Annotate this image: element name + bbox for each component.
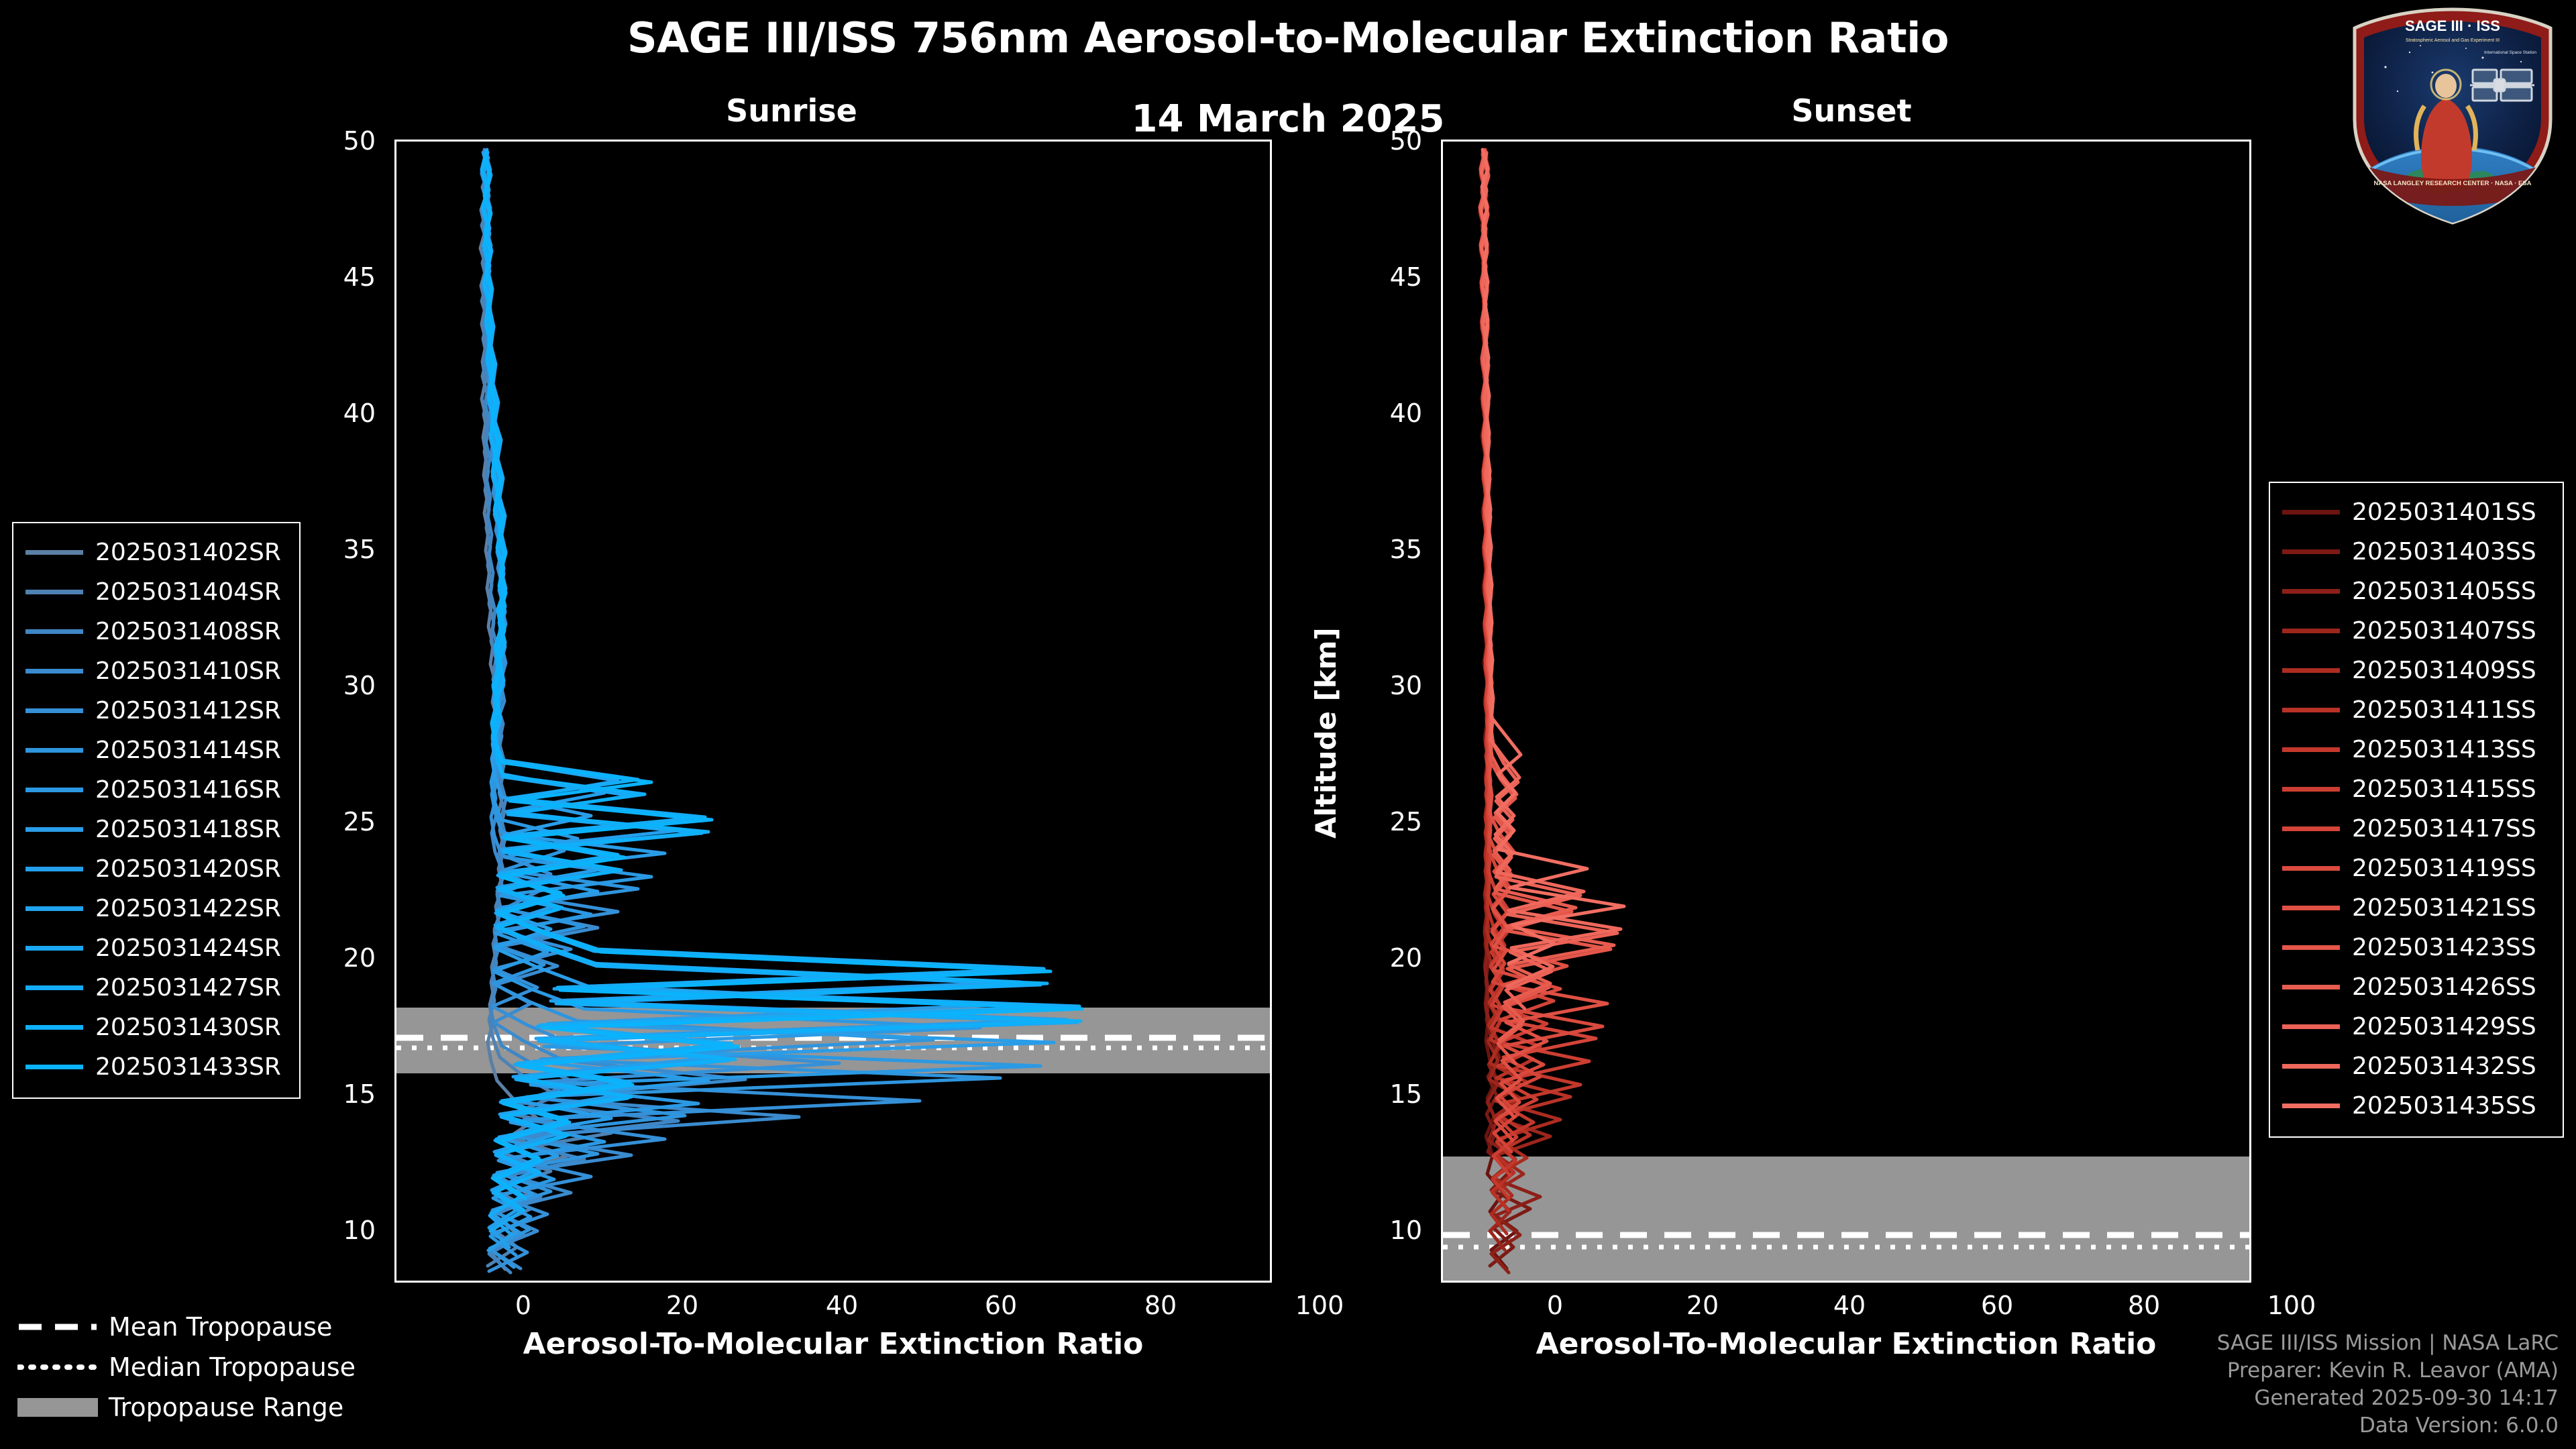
legend-label: 2025031404SR: [95, 578, 281, 606]
logo-station-text: International Space Station: [2484, 50, 2536, 55]
legend-label: 2025031435SS: [2352, 1092, 2536, 1120]
legend-swatch: [2282, 826, 2340, 831]
legend-swatch: [25, 669, 83, 674]
legend-item[interactable]: 2025031426SS: [2282, 967, 2551, 1007]
legend-label: 2025031407SS: [2352, 617, 2536, 645]
logo-sub-text: Stratospheric Aerosol and Gas Experiment…: [2406, 38, 2500, 43]
legend-label: 2025031403SS: [2352, 538, 2536, 566]
legend-swatch: [2282, 1104, 2340, 1108]
legend-item[interactable]: 2025031402SR: [25, 533, 287, 572]
legend-item[interactable]: 2025031407SS: [2282, 611, 2551, 651]
legend-label: 2025031420SR: [95, 855, 281, 883]
credit-line-version: Data Version: 6.0.0: [2217, 1412, 2559, 1440]
legend-label: 2025031412SR: [95, 697, 281, 724]
legend-swatch: [2282, 866, 2340, 871]
xtick-sunset-20: 20: [1662, 1291, 1743, 1320]
panel-header-sunrise: Sunrise: [657, 93, 926, 129]
legend-label: 2025031402SR: [95, 539, 281, 566]
legend-label: 2025031401SS: [2352, 498, 2536, 526]
plot-area-sunrise: [396, 142, 1270, 1281]
legend-swatch: [2282, 945, 2340, 950]
ytick-sunrise-30: 30: [295, 671, 376, 700]
legend-item[interactable]: 2025031408SR: [25, 612, 287, 651]
xtick-sunset-0: 0: [1515, 1291, 1595, 1320]
legend-label: 2025031418SR: [95, 816, 281, 843]
xtick-sunset-60: 60: [1957, 1291, 2037, 1320]
legend-sunrise[interactable]: 2025031402SR 2025031404SR 2025031408SR 2…: [12, 522, 301, 1099]
legend-item[interactable]: 2025031423SS: [2282, 928, 2551, 967]
legend-item[interactable]: 2025031419SS: [2282, 849, 2551, 888]
legend-label: 2025031430SR: [95, 1014, 281, 1041]
title-block: SAGE III/ISS 756nm Aerosol-to-Molecular …: [0, 16, 2576, 141]
legend-item[interactable]: 2025031427SR: [25, 968, 287, 1008]
legend-swatch: [25, 906, 83, 911]
legend-label: 2025031424SR: [95, 934, 281, 962]
ytick-sunset-30: 30: [1342, 671, 1422, 700]
legend-item[interactable]: 2025031421SS: [2282, 888, 2551, 928]
legend-swatch: [2282, 1064, 2340, 1069]
ytick-sunrise-40: 40: [295, 398, 376, 428]
legend-label: 2025031421SS: [2352, 894, 2536, 922]
credit-line-generated: Generated 2025-09-30 14:17: [2217, 1385, 2559, 1412]
dotted-line-icon: [17, 1358, 98, 1376]
legend-item[interactable]: 2025031411SS: [2282, 690, 2551, 730]
legend-item[interactable]: 2025031417SS: [2282, 809, 2551, 849]
legend-item[interactable]: 2025031410SR: [25, 651, 287, 691]
legend-item[interactable]: 2025031409SS: [2282, 651, 2551, 690]
logo-top-text: SAGE III · ISS: [2405, 17, 2500, 34]
plot-area-sunset: [1443, 142, 2249, 1281]
legend-swatch: [2282, 549, 2340, 554]
legend-item-mean-tropopause: Mean Tropopause: [17, 1307, 393, 1347]
legend-item[interactable]: 2025031405SS: [2282, 572, 2551, 611]
legend-label: 2025031417SS: [2352, 815, 2536, 843]
legend-item[interactable]: 2025031420SR: [25, 849, 287, 889]
ytick-sunset-25: 25: [1342, 807, 1422, 837]
legend-swatch: [2282, 747, 2340, 752]
ytick-sunset-40: 40: [1342, 398, 1422, 428]
legend-label: 2025031429SS: [2352, 1013, 2536, 1040]
legend-swatch: [25, 748, 83, 753]
ytick-sunrise-50: 50: [295, 126, 376, 156]
ytick-sunrise-10: 10: [295, 1216, 376, 1245]
legend-item[interactable]: 2025031424SR: [25, 928, 287, 968]
ytick-sunrise-45: 45: [295, 262, 376, 292]
legend-item[interactable]: 2025031432SS: [2282, 1046, 2551, 1086]
legend-swatch: [2282, 668, 2340, 673]
legend-label: 2025031427SR: [95, 974, 281, 1002]
panel-header-sunset: Sunset: [1717, 93, 1986, 129]
xtick-sunrise-100: 100: [1279, 1291, 1360, 1320]
legend-swatch: [25, 550, 83, 555]
legend-label: 2025031426SS: [2352, 973, 2536, 1001]
legend-swatch: [2282, 787, 2340, 792]
xtick-sunrise-0: 0: [483, 1291, 563, 1320]
legend-swatch: [2282, 629, 2340, 633]
legend-item-tropopause-range: Tropopause Range: [17, 1387, 393, 1428]
xtick-sunset-100: 100: [2251, 1291, 2332, 1320]
legend-label: Median Tropopause: [109, 1352, 356, 1382]
legend-label: Tropopause Range: [109, 1393, 343, 1422]
credit-line-mission: SAGE III/ISS Mission | NASA LaRC: [2217, 1330, 2559, 1357]
legend-label: 2025031410SR: [95, 657, 281, 685]
xtick-sunset-40: 40: [1809, 1291, 1890, 1320]
legend-item[interactable]: 2025031433SR: [25, 1047, 287, 1087]
credit-line-preparer: Preparer: Kevin R. Leavor (AMA): [2217, 1357, 2559, 1385]
ytick-sunset-15: 15: [1342, 1079, 1422, 1109]
xaxis-title-sunset: Aerosol-To-Molecular Extinction Ratio: [1441, 1327, 2251, 1361]
legend-label: 2025031416SR: [95, 776, 281, 804]
legend-item[interactable]: 2025031430SR: [25, 1008, 287, 1047]
ytick-sunset-10: 10: [1342, 1216, 1422, 1245]
legend-swatch: [25, 827, 83, 832]
legend-label: 2025031408SR: [95, 618, 281, 645]
legend-swatch: [2282, 708, 2340, 712]
legend-swatch: [25, 788, 83, 792]
legend-swatch: [25, 867, 83, 871]
legend-swatch: [25, 708, 83, 713]
legend-item-median-tropopause: Median Tropopause: [17, 1347, 393, 1387]
legend-swatch: [25, 985, 83, 990]
legend-label: Mean Tropopause: [109, 1312, 332, 1342]
xaxis-title-sunrise: Aerosol-To-Molecular Extinction Ratio: [394, 1327, 1272, 1361]
xtick-sunrise-20: 20: [642, 1291, 722, 1320]
legend-item[interactable]: 2025031414SR: [25, 731, 287, 770]
legend-item[interactable]: 2025031401SS: [2282, 492, 2551, 532]
legend-item[interactable]: 2025031404SR: [25, 572, 287, 612]
legend-label: 2025031423SS: [2352, 934, 2536, 961]
xtick-sunset-80: 80: [2104, 1291, 2184, 1320]
legend-label: 2025031432SS: [2352, 1053, 2536, 1080]
xtick-sunrise-40: 40: [802, 1291, 882, 1320]
legend-label: 2025031405SS: [2352, 578, 2536, 605]
legend-item[interactable]: 2025031418SR: [25, 810, 287, 849]
ytick-sunset-45: 45: [1342, 262, 1422, 292]
legend-swatch: [2282, 510, 2340, 515]
legend-label: 2025031411SS: [2352, 696, 2536, 724]
sage-iii-iss-logo: SAGE III · ISS Stratospheric Aerosol and…: [2345, 5, 2560, 227]
ytick-sunset-20: 20: [1342, 943, 1422, 973]
legend-item[interactable]: 2025031416SR: [25, 770, 287, 810]
legend-swatch: [2282, 985, 2340, 989]
legend-swatch: [25, 1065, 83, 1069]
page-title: SAGE III/ISS 756nm Aerosol-to-Molecular …: [0, 16, 2576, 60]
legend-item[interactable]: 2025031422SR: [25, 889, 287, 928]
legend-item[interactable]: 2025031413SS: [2282, 730, 2551, 769]
legend-swatch: [25, 629, 83, 634]
legend-swatch: [2282, 906, 2340, 910]
legend-swatch: [25, 946, 83, 951]
legend-item[interactable]: 2025031415SS: [2282, 769, 2551, 809]
legend-swatch: [2282, 589, 2340, 594]
legend-label: 2025031419SS: [2352, 855, 2536, 882]
gray-band-icon: [17, 1398, 98, 1417]
legend-swatch: [25, 590, 83, 594]
ytick-sunrise-35: 35: [295, 535, 376, 564]
page-subtitle-date: 14 March 2025: [0, 97, 2576, 141]
logo-ring-text: NASA LANGLEY RESEARCH CENTER · NASA · ES…: [2373, 180, 2531, 187]
ytick-sunrise-20: 20: [295, 943, 376, 973]
ytick-sunrise-25: 25: [295, 807, 376, 837]
plot-panel-sunrise: [394, 140, 1272, 1283]
legend-label: 2025031433SR: [95, 1053, 281, 1081]
legend-item[interactable]: 2025031403SS: [2282, 532, 2551, 572]
legend-sunset[interactable]: 2025031401SS 2025031403SS 2025031405SS 2…: [2269, 482, 2564, 1138]
ytick-sunset-35: 35: [1342, 535, 1422, 564]
legend-swatch: [25, 1025, 83, 1030]
yaxis-title-sunset: Altitude [km]: [1309, 627, 1342, 839]
legend-item[interactable]: 2025031412SR: [25, 691, 287, 731]
tropopause-legend: Mean Tropopause Median Tropopause Tropop…: [17, 1307, 393, 1428]
dashed-line-icon: [17, 1318, 98, 1336]
xtick-sunrise-60: 60: [961, 1291, 1041, 1320]
legend-item[interactable]: 2025031435SS: [2282, 1086, 2551, 1126]
legend-label: 2025031422SR: [95, 895, 281, 922]
ytick-sunrise-15: 15: [295, 1079, 376, 1109]
legend-label: 2025031414SR: [95, 737, 281, 764]
xtick-sunrise-80: 80: [1120, 1291, 1201, 1320]
legend-label: 2025031413SS: [2352, 736, 2536, 763]
legend-item[interactable]: 2025031429SS: [2282, 1007, 2551, 1046]
ytick-sunset-50: 50: [1342, 126, 1422, 156]
credits-block: SAGE III/ISS Mission | NASA LaRC Prepare…: [2217, 1330, 2559, 1440]
legend-label: 2025031415SS: [2352, 775, 2536, 803]
legend-swatch: [2282, 1024, 2340, 1029]
legend-label: 2025031409SS: [2352, 657, 2536, 684]
plot-panel-sunset: [1441, 140, 2251, 1283]
